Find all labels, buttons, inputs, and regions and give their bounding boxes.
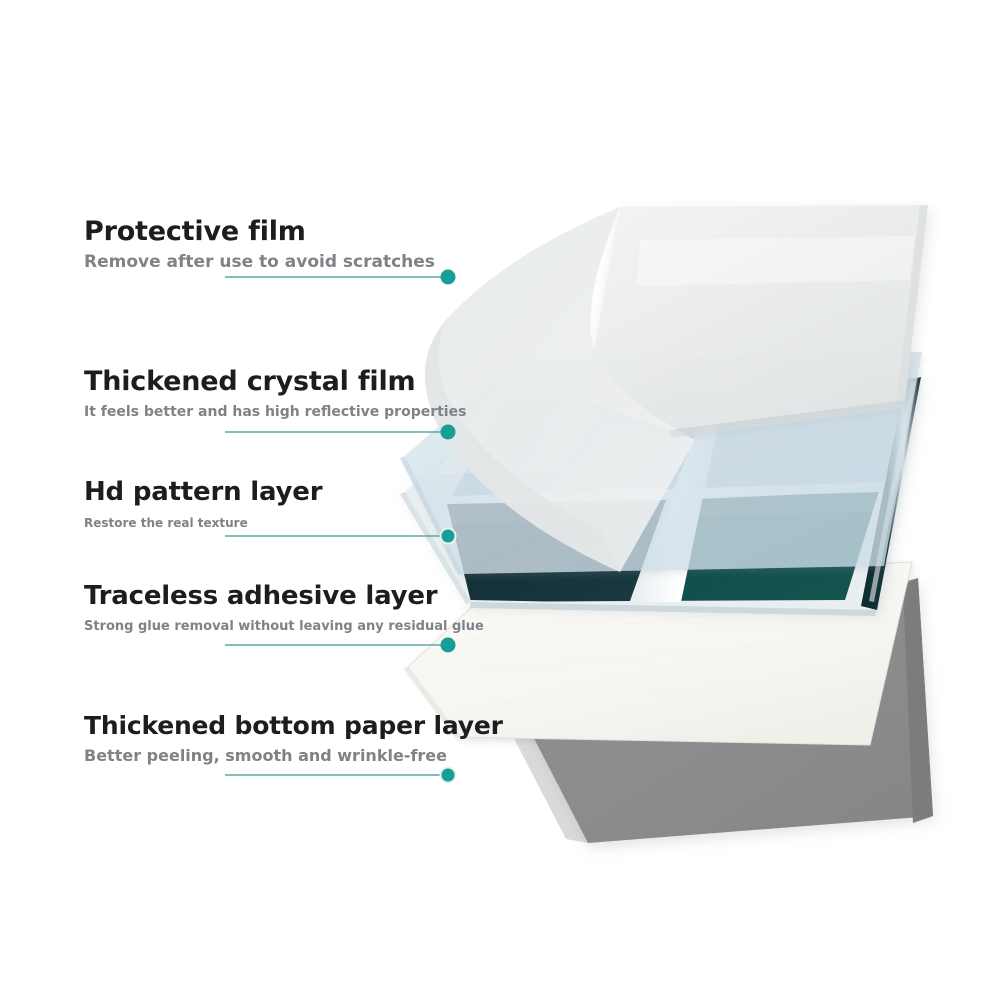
layer-subtitle-hd-pattern-layer: Restore the real texture — [0, 516, 470, 530]
marker-dot-hd-pattern-layer — [441, 529, 456, 544]
callout-protective-film: Protective film Remove after use to avoi… — [0, 216, 470, 272]
layer-subtitle-thickened-crystal-film: It feels better and has high reflective … — [0, 404, 470, 420]
layer-title-traceless-adhesive-layer: Traceless adhesive layer — [0, 581, 470, 611]
callout-thickened-crystal-film: Thickened crystal film It feels better a… — [0, 366, 470, 420]
callout-hd-pattern-layer: Hd pattern layer Restore the real textur… — [0, 477, 470, 530]
callout-traceless-adhesive-layer: Traceless adhesive layer Strong glue rem… — [0, 581, 470, 634]
marker-dot-thickened-crystal-film — [441, 425, 456, 440]
layer-structure-infographic: Protective film Remove after use to avoi… — [0, 0, 1000, 1000]
layer-title-thickened-bottom-paper-layer: Thickened bottom paper layer — [0, 711, 470, 740]
marker-dot-traceless-adhesive-layer — [441, 638, 456, 653]
layer-subtitle-thickened-bottom-paper-layer: Better peeling, smooth and wrinkle-free — [0, 746, 470, 765]
layer-title-protective-film: Protective film — [0, 216, 470, 247]
layer-subtitle-traceless-adhesive-layer: Strong glue removal without leaving any … — [0, 619, 470, 634]
marker-dot-thickened-bottom-paper-layer — [441, 768, 456, 783]
layer-subtitle-protective-film: Remove after use to avoid scratches — [0, 252, 470, 272]
layer-title-hd-pattern-layer: Hd pattern layer — [0, 477, 470, 507]
callout-thickened-bottom-paper-layer: Thickened bottom paper layer Better peel… — [0, 711, 470, 765]
layer-title-thickened-crystal-film: Thickened crystal film — [0, 366, 470, 397]
